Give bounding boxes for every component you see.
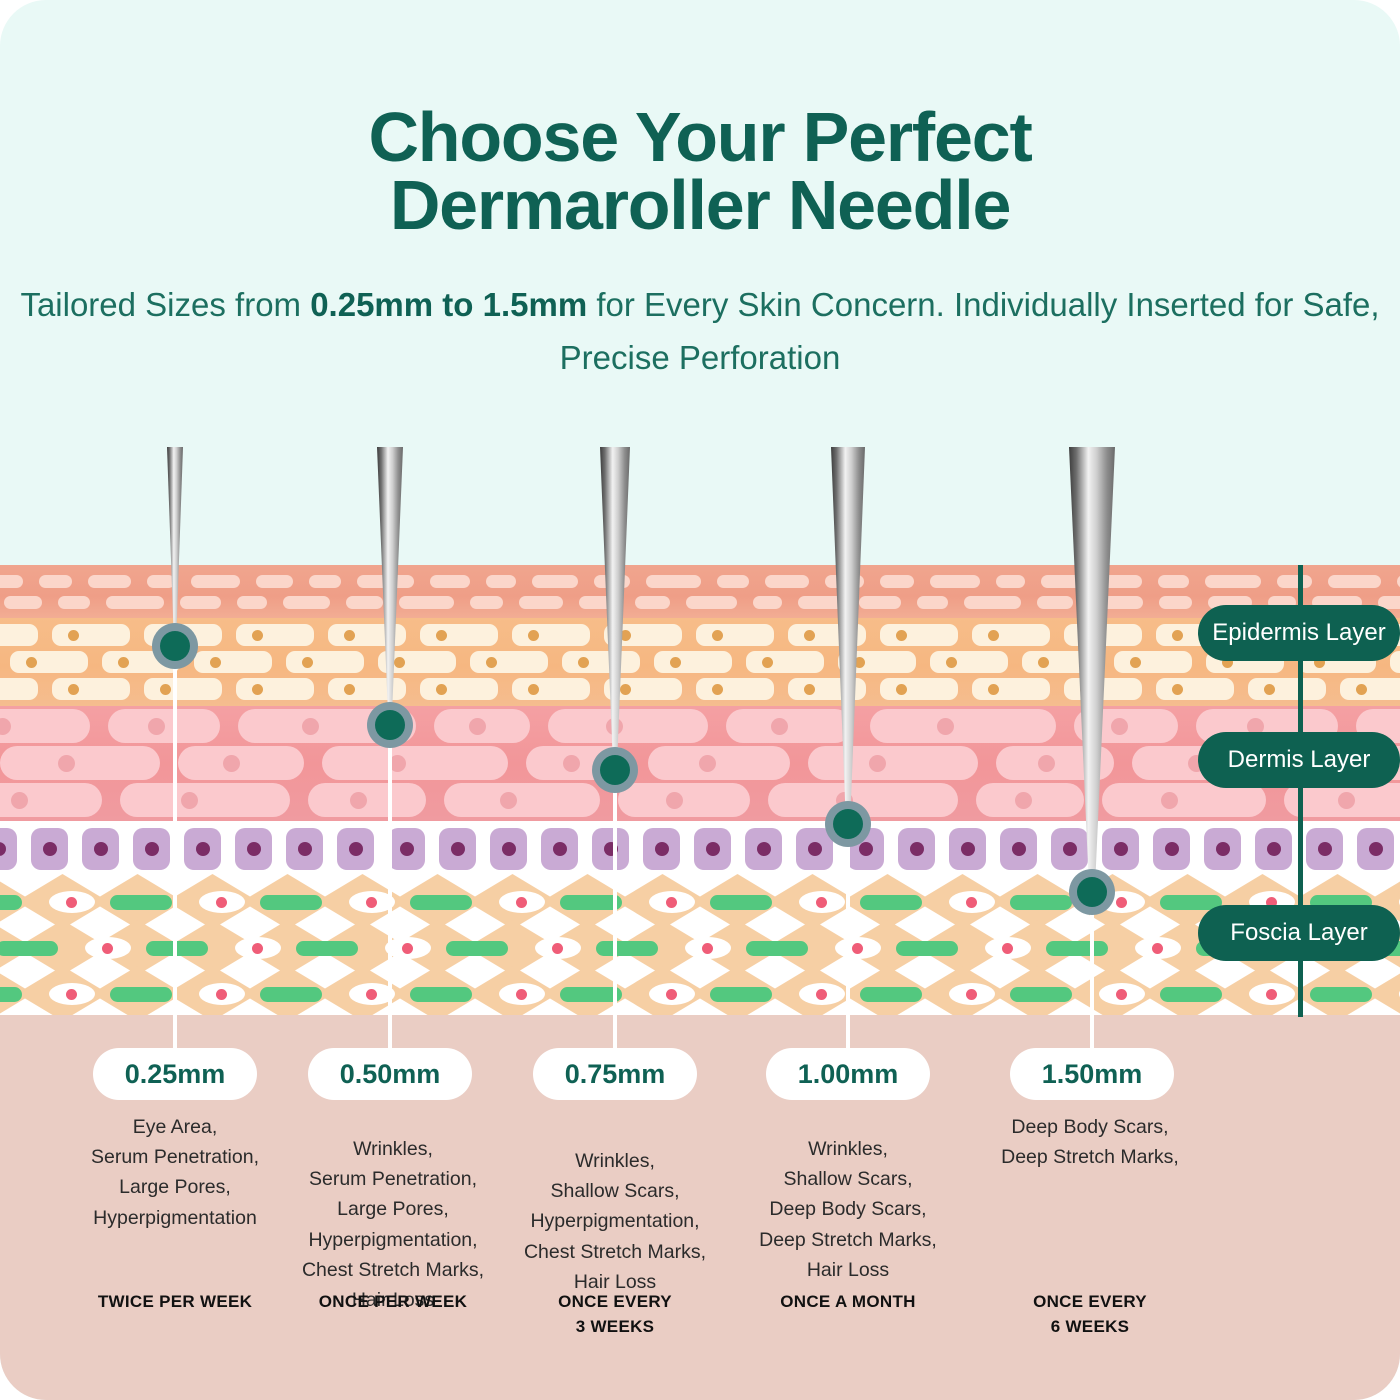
needle-cone-icon [377,447,403,725]
fascia-fiber-bar [860,895,922,910]
dermis-cell [322,746,508,780]
epidermis-cell-nucleus [1264,684,1275,695]
needle-cone-icon [600,447,630,770]
basal-cell [490,828,527,870]
fascia-cell-lens [649,891,695,913]
epidermis-cell-nucleus [578,657,589,668]
fascia-cell-lens [49,983,95,1005]
epidermis-cell-nucleus [762,657,773,668]
basal-cell-nucleus [1165,842,1179,856]
fascia-fiber-bar [860,987,922,1002]
basal-cell-nucleus [400,842,414,856]
needle-tip-marker [367,702,413,748]
dermis-cell-nucleus [223,755,240,772]
epidermis-cell [0,624,38,646]
epidermis-cell-nucleus [946,657,957,668]
basal-cell [286,828,323,870]
subtitle-range: 0.25mm to 1.5mm [310,286,587,323]
subtitle-suffix: for Every Skin Concern. Individually Ins… [560,286,1380,376]
corneum-brick [39,575,72,588]
epidermis-cell [470,651,548,673]
basal-cell-nucleus [1318,842,1332,856]
corneum-brick-row [0,575,1400,588]
basal-cell [1306,828,1343,870]
needle-depth-leader-line [388,725,392,1048]
basal-cell-nucleus [553,842,567,856]
corneum-brick [1158,575,1188,588]
basal-cell [541,828,578,870]
epidermis-cell-row [0,624,1400,646]
fascia-fiber-bar [410,895,472,910]
title-line-2: Dermaroller Needle [390,166,1010,244]
needle-tip-marker [152,623,198,669]
epidermis-cell [1390,651,1400,673]
epidermis-cell-nucleus [1356,684,1367,695]
fascia-cell-nucleus [816,897,827,908]
epidermis-cell-nucleus [252,630,263,641]
basal-cell-row [0,828,1400,870]
fascia-fiber-bar [110,987,172,1002]
corneum-brick [765,575,809,588]
needle-size-badge-0.50mm[interactable]: 0.50mm [308,1048,472,1100]
epidermis-cell-nucleus [988,630,999,641]
fascia-cell-nucleus [1266,989,1277,1000]
skin-cross-section [0,565,1400,1015]
basal-cell-nucleus [1369,842,1383,856]
corneum-brick [996,575,1025,588]
basal-cell [745,828,782,870]
dermis-cell [1102,783,1266,817]
epidermis-cell [696,624,774,646]
basal-cell-nucleus [910,842,924,856]
fascia-fiber-bar [0,987,22,1002]
fascia-fiber-bar [710,987,772,1002]
fascia-fiber-bar [410,987,472,1002]
epidermis-cell-row [0,678,1400,700]
epidermis-cell [930,651,1008,673]
fascia-cell-lens [685,937,731,959]
basal-cell-nucleus [1267,842,1281,856]
fascia-cell-lens [535,937,581,959]
dermis-cell [308,783,426,817]
basal-cell [592,828,629,870]
corneum-brick [88,575,131,588]
epidermis-cell-nucleus [1130,657,1141,668]
epidermis-cell-nucleus [68,684,79,695]
layer-badge-epidermis: Epidermis Layer [1198,605,1400,661]
corneum-brick [470,596,503,609]
needle-concerns-0.75mm: Wrinkles, Shallow Scars, Hyperpigmentati… [500,1146,730,1297]
corneum-brick [1037,596,1072,609]
needle-size-badge-1.50mm[interactable]: 1.50mm [1010,1048,1174,1100]
epidermis-cell-row [0,651,1400,673]
fascia-cell-nucleus [366,897,377,908]
epidermis-cell-nucleus [896,630,907,641]
needle-0.25mm [167,447,183,646]
corneum-brick-row [0,596,1400,609]
fascia-cell-nucleus [966,989,977,1000]
basal-cell-nucleus [1216,842,1230,856]
dermis-cell-nucleus [1161,792,1178,809]
basal-cell-nucleus [247,842,261,856]
fascia-cell-nucleus [1152,943,1163,954]
needle-depth-leader-line [173,646,177,1048]
epidermis-cell-nucleus [344,684,355,695]
dermis-cell-nucleus [350,792,367,809]
basal-cell-nucleus [298,842,312,856]
fascia-cell-nucleus [216,897,227,908]
epidermis-cell [194,651,272,673]
dermis-cell [108,709,220,743]
fascia-cell-lens [649,983,695,1005]
fascia-fiber-bar [1160,987,1222,1002]
dermis-cell [648,746,790,780]
epidermis-cell [1340,678,1400,700]
needle-concerns-0.50mm: Wrinkles, Serum Penetration, Large Pores… [278,1134,508,1315]
fascia-cell-lens [1099,983,1145,1005]
fascia-fiber-bar [446,941,508,956]
needle-concerns-0.25mm: Eye Area, Serum Penetration, Large Pores… [60,1112,290,1233]
epidermis-cell [236,678,314,700]
basal-cell [694,828,731,870]
needle-tip-marker [592,747,638,793]
dermis-cell-nucleus [0,718,11,735]
epidermis-cell-nucleus [486,657,497,668]
needle-size-badge-1.00mm[interactable]: 1.00mm [766,1048,930,1100]
fascia-cell-nucleus [1116,989,1127,1000]
needle-frequency-0.50mm: ONCE PER WEEK [278,1290,508,1315]
dermis-cell-nucleus [1338,792,1355,809]
epidermis-cell [0,678,38,700]
basal-cell [949,828,986,870]
fascia-cell-nucleus [516,897,527,908]
dermis-cell-nucleus [1015,792,1032,809]
basal-cell-nucleus [1012,842,1026,856]
epidermis-cell-nucleus [344,630,355,641]
needle-cone-icon [1069,447,1115,892]
corneum-brick [309,575,340,588]
dermis-cell-nucleus [1038,755,1055,772]
fascia-cell-nucleus [66,989,77,1000]
needle-frequency-1.00mm: ONCE A MONTH [733,1290,963,1315]
dermis-cell [0,783,102,817]
fascia-cell-nucleus [966,897,977,908]
layer-badge-label: Foscia Layer [1230,919,1367,947]
epidermis-cell [512,678,590,700]
fascia-cell-nucleus [702,943,713,954]
epidermis-cell-nucleus [804,630,815,641]
epidermis-cell-nucleus [302,657,313,668]
epidermis-cell [972,624,1050,646]
epidermis-cell [654,651,732,673]
basal-cell [643,828,680,870]
epidermis-cell [286,651,364,673]
fascia-cell-nucleus [852,943,863,954]
fascia-cell-nucleus [1002,943,1013,954]
dermis-cell-nucleus [699,755,716,772]
epidermis-cell-nucleus [1172,684,1183,695]
basal-cell-nucleus [196,842,210,856]
basal-cell [388,828,425,870]
basal-cell-nucleus [43,842,57,856]
needle-0.50mm [377,447,403,725]
basal-cell-nucleus [808,842,822,856]
basal-cell-nucleus [451,842,465,856]
fascia-fiber-bar [1010,895,1072,910]
corneum-brick [686,596,737,609]
infographic-canvas: Choose Your Perfect Dermaroller Needle T… [0,0,1400,1400]
needle-tip-core [375,710,405,740]
basal-cell [133,828,170,870]
basal-cell-nucleus [349,842,363,856]
dermis-cell-nucleus [666,792,683,809]
epidermis-cell-nucleus [436,684,447,695]
dermis-cell-nucleus [869,755,886,772]
needle-tip-core [1077,877,1107,907]
needle-tip-core [833,809,863,839]
layer-badge-dermis: Dermis Layer [1198,732,1400,788]
dermis-cell [0,709,90,743]
dermis-cell [120,783,290,817]
header: Choose Your Perfect Dermaroller Needle T… [0,0,1400,385]
needle-depth-leader-line [846,824,850,1048]
fascia-fiber-bar [146,941,208,956]
corneum-brick [58,596,90,609]
needle-cone-icon [167,447,183,646]
basal-cell [1000,828,1037,870]
epidermis-cell [1248,678,1326,700]
dermis-cell-nucleus [302,718,319,735]
corneum-brick [486,575,516,588]
fascia-cell-nucleus [816,989,827,1000]
fascia-fiber-bar [0,895,22,910]
fascia-fiber-bar [1046,941,1108,956]
fascia-cell-lens [799,983,845,1005]
dermis-cell-nucleus [937,718,954,735]
epidermis-cell-nucleus [528,684,539,695]
layer-badge-label: Epidermis Layer [1212,619,1385,647]
corneum-brick [519,596,564,609]
fascia-fiber-bar [0,941,58,956]
fascia-cell-nucleus [366,989,377,1000]
corneum-brick [930,575,980,588]
fascia-cell-lens [949,983,995,1005]
fascia-cell-lens [499,891,545,913]
epidermis-cell-nucleus [436,630,447,641]
corneum-brick [859,596,901,609]
fascia-cell-nucleus [666,989,677,1000]
basal-cell [1357,828,1394,870]
fascia-cell-nucleus [252,943,263,954]
basal-cell-nucleus [0,842,6,856]
epidermis-cell-nucleus [988,684,999,695]
epidermis-layer [0,618,1400,706]
epidermis-cell [52,624,130,646]
layer-badge-fascia: Foscia Layer [1198,905,1400,961]
needle-size-badge-0.75mm[interactable]: 0.75mm [533,1048,697,1100]
page-subtitle: Tailored Sizes from 0.25mm to 1.5mm for … [0,240,1400,385]
dermis-cell [434,709,530,743]
fascia-cell-lens [949,891,995,913]
fascia-cell-lens [85,937,131,959]
fascia-cell-lens [1249,983,1295,1005]
basal-cell-nucleus [145,842,159,856]
fascia-cell-lens [799,891,845,913]
dermis-cell-nucleus [469,718,486,735]
epidermis-cell-nucleus [528,630,539,641]
needle-depth-leader-line [1090,892,1094,1048]
epidermis-cell-nucleus [712,630,723,641]
needle-frequency-0.75mm: ONCE EVERY 3 WEEKS [500,1290,730,1339]
fascia-cell-lens [499,983,545,1005]
corneum-brick [180,596,221,609]
basal-cell-layer [0,821,1400,879]
needle-0.75mm [600,447,630,770]
stratum-corneum-layer [0,565,1400,618]
fascia-fiber-bar [896,941,958,956]
epidermis-cell-nucleus [26,657,37,668]
epidermis-cell-nucleus [68,630,79,641]
basal-cell-nucleus [502,842,516,856]
fascia-layer [0,879,1400,1015]
fascia-fiber-bar [710,895,772,910]
corneum-brick [191,575,240,588]
corneum-brick [1159,596,1193,609]
corneum-brick [430,575,470,588]
needle-size-badge-0.25mm[interactable]: 0.25mm [93,1048,257,1100]
fascia-fiber-bar [746,941,808,956]
subtitle-prefix: Tailored Sizes from [20,286,310,323]
dermis-layer [0,706,1400,821]
fascia-fiber-bar [260,895,322,910]
fascia-cell-nucleus [402,943,413,954]
dermis-cell [618,783,750,817]
epidermis-cell-nucleus [160,684,171,695]
basal-cell-nucleus [706,842,720,856]
epidermis-cell-nucleus [1038,657,1049,668]
needle-cone-icon [831,447,865,824]
dermis-cell-row [0,746,1400,780]
epidermis-cell [420,624,498,646]
basal-cell-nucleus [94,842,108,856]
fascia-fiber-bar [296,941,358,956]
basal-cell [1255,828,1292,870]
dermis-cell-nucleus [500,792,517,809]
epidermis-cell [52,678,130,700]
dermis-cell [0,746,160,780]
fascia-cell-lens [835,937,881,959]
needle-concerns-1.00mm: Wrinkles, Shallow Scars, Deep Body Scars… [733,1134,963,1285]
dermis-cell-nucleus [181,792,198,809]
dermis-cell [976,783,1084,817]
dermis-cell [444,783,600,817]
epidermis-cell-nucleus [896,684,907,695]
fascia-cell-nucleus [216,989,227,1000]
corneum-brick [0,575,23,588]
epidermis-cell [512,624,590,646]
dermis-cell-row [0,783,1400,817]
corneum-brick [635,596,670,609]
corneum-brick [256,575,294,588]
needle-concerns-1.50mm: Deep Body Scars, Deep Stretch Marks, [975,1112,1205,1172]
basal-cell-nucleus [859,842,873,856]
corneum-brick [399,596,454,609]
epidermis-cell [880,678,958,700]
corneum-brick [717,575,749,588]
basal-cell [439,828,476,870]
corneum-brick [917,596,948,609]
dermis-cell-nucleus [771,718,788,735]
fascia-cell-nucleus [66,897,77,908]
basal-cell [337,828,374,870]
fascia-cell-lens [1135,937,1181,959]
epidermis-cell [1156,678,1234,700]
fascia-cell-lens [199,983,245,1005]
corneum-brick [646,575,701,588]
corneum-brick [964,596,1021,609]
corneum-brick [4,596,42,609]
fascia-cell-nucleus [1116,897,1127,908]
fascia-cell-nucleus [666,897,677,908]
basal-cell [184,828,221,870]
epidermis-cell-nucleus [118,657,129,668]
fascia-fiber-bar [260,987,322,1002]
epidermis-cell [696,678,774,700]
basal-cell [1153,828,1190,870]
fascia-diamond [1367,966,1400,1015]
layer-badge-label: Dermis Layer [1228,746,1371,774]
page-title: Choose Your Perfect Dermaroller Needle [0,0,1400,240]
corneum-brick [880,575,914,588]
fascia-fiber-bar [1310,987,1372,1002]
fascia-cell-nucleus [102,943,113,954]
epidermis-cell [972,678,1050,700]
needle-1.50mm [1069,447,1115,892]
fascia-cell-lens [199,891,245,913]
epidermis-cell [10,651,88,673]
dermis-cell-nucleus [58,755,75,772]
basal-cell [235,828,272,870]
dermis-cell [178,746,304,780]
basal-cell-nucleus [757,842,771,856]
basal-cell [82,828,119,870]
epidermis-cell-nucleus [804,684,815,695]
fascia-fiber-bar [1010,987,1072,1002]
fascia-cell-nucleus [552,943,563,954]
basal-cell [31,828,68,870]
epidermis-cell-nucleus [252,684,263,695]
dermis-cell-nucleus [563,755,580,772]
dermis-cell-row [0,709,1400,743]
corneum-brick [753,596,782,609]
epidermis-cell-nucleus [210,657,221,668]
fascia-cell-lens [235,937,281,959]
needle-tip-core [600,755,630,785]
basal-cell [0,828,17,870]
corneum-brick [106,596,164,609]
epidermis-cell [880,624,958,646]
epidermis-cell [1114,651,1192,673]
fascia-fiber-bar [110,895,172,910]
fascia-cell-nucleus [516,989,527,1000]
needle-depth-leader-line [613,770,617,1048]
corneum-brick [1328,575,1381,588]
fascia-cell-lens [985,937,1031,959]
fascia-cell-lens [49,891,95,913]
epidermis-cell [236,624,314,646]
epidermis-cell [144,678,222,700]
epidermis-cell-nucleus [712,684,723,695]
